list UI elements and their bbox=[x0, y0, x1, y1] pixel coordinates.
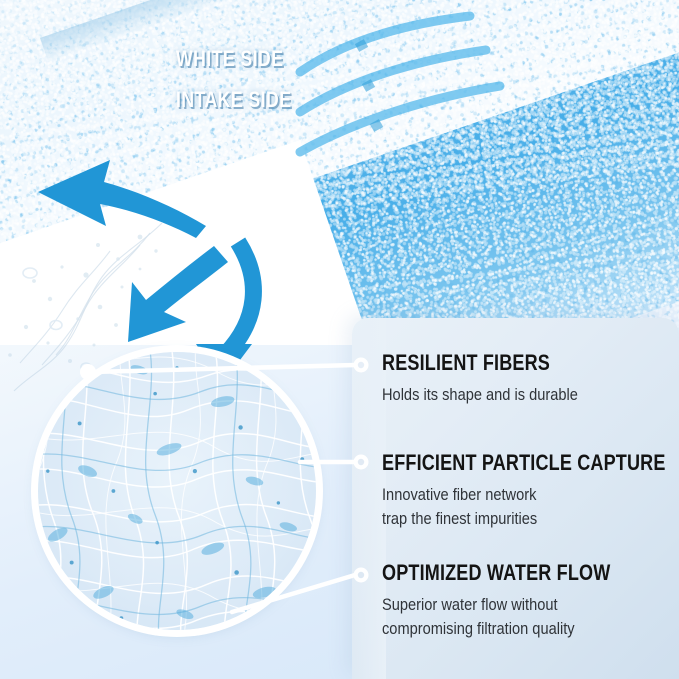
fiber-magnifier-content bbox=[38, 352, 316, 630]
feature-line: Innovative fiber network bbox=[382, 483, 679, 507]
feature-heading: RESILIENT FIBERS bbox=[382, 352, 569, 374]
feature-heading: OPTIMIZED WATER FLOW bbox=[382, 562, 610, 584]
feature-line: Superior water flow without bbox=[382, 593, 622, 617]
feature-efficient-particle-capture: EFFICIENT PARTICLE CAPTURE Innovative fi… bbox=[382, 452, 679, 531]
label-white-side: WHITE SIDE bbox=[176, 48, 283, 70]
arrow-down-left-icon bbox=[128, 246, 228, 342]
feature-line: compromising filtration quality bbox=[382, 617, 622, 641]
arrow-up-left-icon bbox=[38, 160, 206, 238]
feature-heading: EFFICIENT PARTICLE CAPTURE bbox=[382, 452, 666, 474]
feature-line: trap the finest impurities bbox=[382, 507, 679, 531]
label-intake-side: INTAKE SIDE bbox=[176, 89, 291, 111]
infographic-canvas: WHITE SIDE INTAKE SIDE bbox=[0, 0, 679, 679]
fiber-magnifier-circle bbox=[38, 352, 316, 630]
feature-optimized-water-flow: OPTIMIZED WATER FLOW Superior water flow… bbox=[382, 562, 661, 641]
arrow-down-icon bbox=[226, 242, 253, 354]
feature-line: Holds its shape and is durable bbox=[382, 383, 578, 407]
fiber-mesh-texture bbox=[38, 352, 316, 630]
feature-resilient-fibers: RESILIENT FIBERS Holds its shape and is … bbox=[382, 352, 610, 407]
features-panel-left-fade bbox=[352, 318, 386, 679]
